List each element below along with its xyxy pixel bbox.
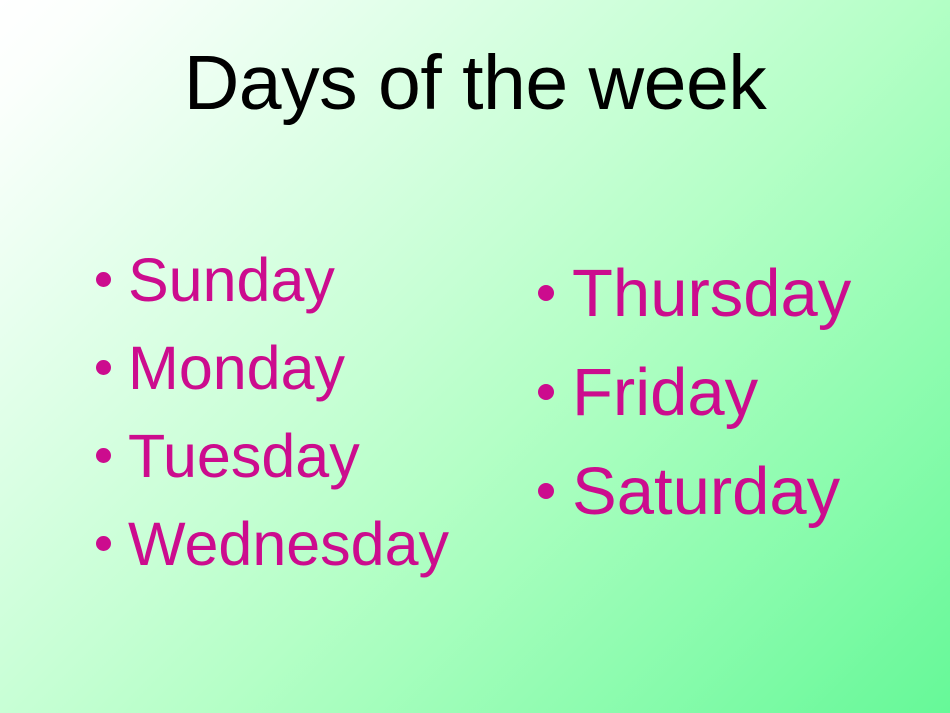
list-item: Friday [538, 343, 938, 442]
list-item-label: Thursday [572, 244, 851, 343]
slide-body: Sunday Monday Tuesday Wednesday Thursday [0, 236, 950, 656]
round-bullet-icon [96, 448, 111, 463]
list-item-label: Friday [572, 343, 758, 442]
list-item: Wednesday [96, 500, 516, 588]
round-bullet-icon [538, 384, 554, 400]
list-item-label: Monday [128, 324, 345, 412]
list-item: Sunday [96, 236, 516, 324]
round-bullet-icon [96, 536, 111, 551]
list-item: Saturday [538, 442, 938, 541]
list-item: Monday [96, 324, 516, 412]
round-bullet-icon [538, 483, 554, 499]
bullet-column-left: Sunday Monday Tuesday Wednesday [96, 236, 516, 588]
list-item-label: Saturday [572, 442, 840, 541]
page-title: Days of the week [184, 44, 767, 123]
bullet-column-right: Thursday Friday Saturday [538, 236, 938, 541]
slide-title-block: Days of the week [0, 44, 950, 123]
list-item: Tuesday [96, 412, 516, 500]
round-bullet-icon [538, 285, 554, 301]
round-bullet-icon [96, 272, 111, 287]
list-item-label: Wednesday [128, 500, 449, 588]
list-item-label: Sunday [128, 236, 335, 324]
round-bullet-icon [96, 360, 111, 375]
list-item-label: Tuesday [128, 412, 360, 500]
presentation-slide: Days of the week Sunday Monday Tuesday W… [0, 0, 950, 713]
list-item: Thursday [538, 244, 938, 343]
